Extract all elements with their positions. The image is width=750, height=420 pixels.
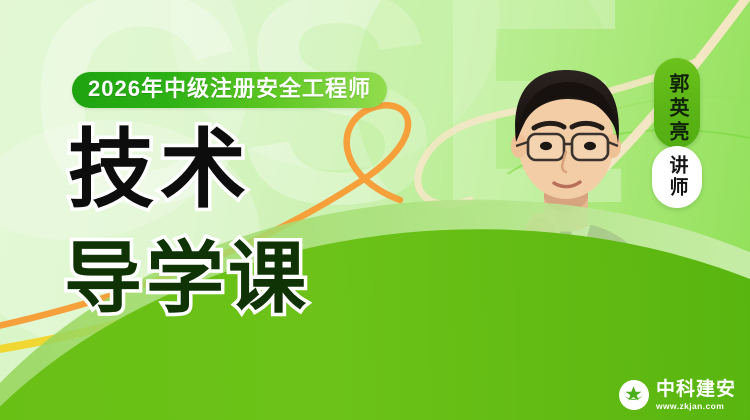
course-poster: CSE (0, 0, 750, 420)
poster-title-main: 技术 (68, 128, 252, 212)
brand-url: www.zkjan.com (656, 402, 736, 411)
brand-name: 中科建安 (656, 380, 736, 399)
instructor-role: 讲师 (668, 155, 687, 199)
brand-logo: 中科建安 www.zkjan.com (619, 380, 736, 411)
instructor-role-badge: 讲师 (652, 146, 702, 208)
instructor-name-badge: 郭英亮 (654, 58, 700, 148)
zkjan-circle-logo-icon (619, 380, 649, 410)
course-tag-badge: 2026年中级注册安全工程师 (72, 72, 387, 108)
instructor-name: 郭英亮 (667, 70, 687, 148)
brand-logo-text: 中科建安 www.zkjan.com (656, 380, 736, 411)
poster-title-sub: 导学课 (64, 240, 310, 316)
course-tag-label: 2026年中级注册安全工程师 (88, 77, 371, 100)
